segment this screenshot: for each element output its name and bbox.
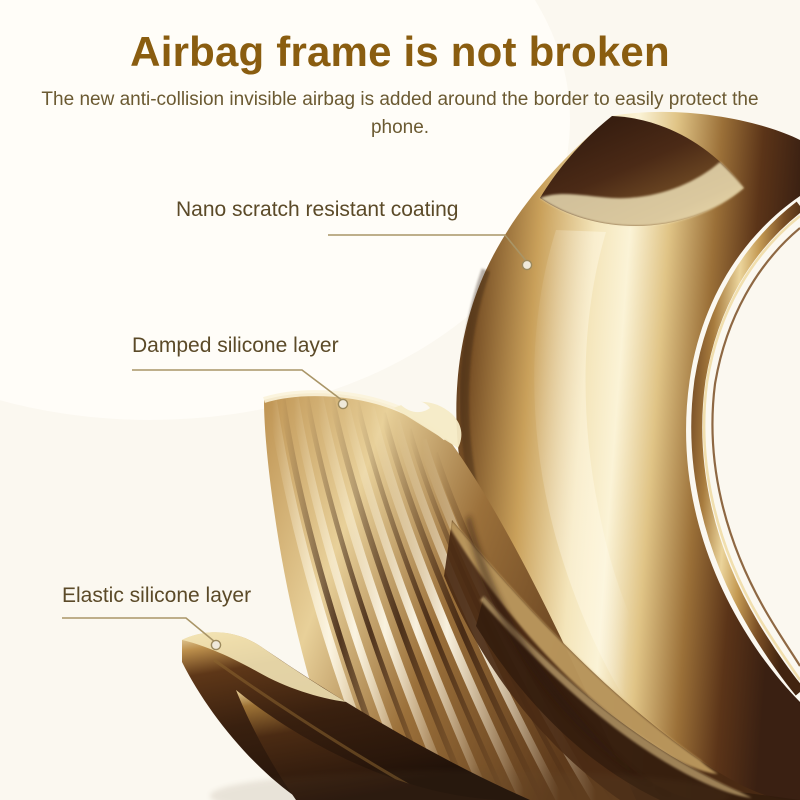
callout-label: Damped silicone layer <box>132 334 339 358</box>
product-feature-graphic: Airbag frame is not broken The new anti-… <box>0 0 800 800</box>
page-title: Airbag frame is not broken <box>0 28 800 76</box>
callout-label: Nano scratch resistant coating <box>176 198 458 222</box>
page-subtitle: The new anti-collision invisible airbag … <box>12 86 788 142</box>
callout-label: Elastic silicone layer <box>62 584 251 608</box>
